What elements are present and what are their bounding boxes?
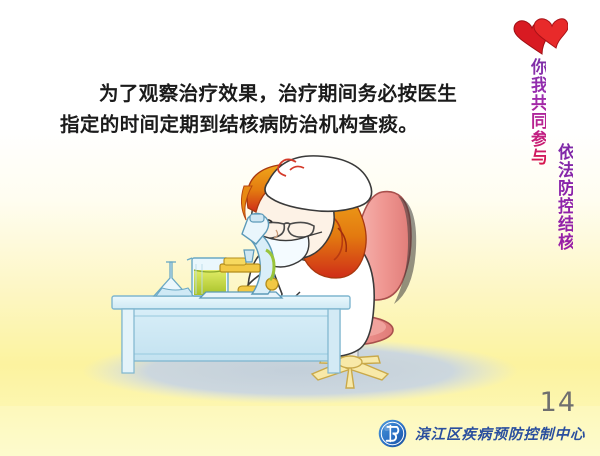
double-heart-icon — [508, 18, 568, 56]
glasses — [248, 222, 314, 238]
vertical-slogan: 你我共同参与 依法防控结核 — [504, 18, 586, 258]
slide-canvas: 为了观察治疗效果，治疗期间务必按医生 指定的时间定期到结核病防治机构查痰。 你我… — [0, 0, 600, 456]
cdc-circular-logo-icon — [378, 419, 407, 448]
footer-organization: 滨江区疾病预防控制中心 — [378, 419, 586, 448]
lab-desk — [112, 296, 350, 373]
face-mask — [257, 234, 309, 267]
office-chair — [307, 192, 416, 388]
organization-name: 滨江区疾病预防控制中心 — [415, 423, 586, 444]
headline-text: 为了观察治疗效果，治疗期间务必按医生 指定的时间定期到结核病防治机构查痰。 — [60, 78, 500, 140]
specimen-tube — [238, 286, 270, 294]
headline-line-1: 为了观察治疗效果，治疗期间务必按医生 — [60, 78, 500, 109]
technician-coat — [247, 231, 374, 357]
beaker-green-liquid — [187, 258, 228, 296]
technician-cap — [265, 156, 372, 211]
slogan-column-1: 你我共同参与 — [527, 58, 546, 166]
focus-knob — [266, 278, 278, 290]
slogan-column-2: 依法防控结核 — [554, 143, 573, 251]
microscope — [200, 213, 282, 298]
technician-hair — [296, 184, 366, 278]
erlenmeyer-flask — [154, 262, 194, 296]
technician-figure — [236, 156, 374, 360]
floor-shadow-ellipse — [82, 338, 518, 404]
glassware — [154, 258, 270, 296]
headline-line-2: 指定的时间定期到结核病防治机构查痰。 — [60, 109, 500, 140]
chair-base — [312, 356, 388, 388]
page-number: 14 — [540, 387, 576, 418]
